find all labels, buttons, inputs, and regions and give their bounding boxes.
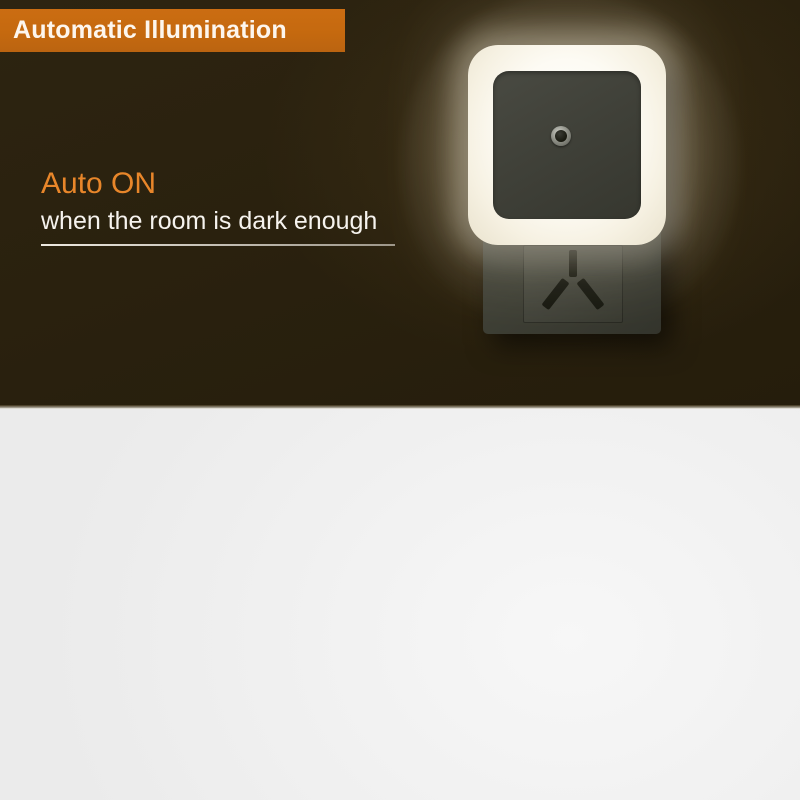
headline-banner-label: Automatic Illumination [0, 16, 287, 45]
panel-divider [0, 405, 800, 409]
light-sensor-icon [551, 126, 571, 146]
socket-pin-top-icon [569, 250, 577, 277]
product-feature-poster: Automatic Illumination Auto ON when the … [0, 0, 800, 800]
caption-auto-on-rule [41, 244, 395, 246]
socket-pin-left-icon [541, 278, 569, 310]
caption-auto-on-subtitle: when the room is dark enough [41, 204, 395, 238]
wall-socket-dark [523, 245, 623, 323]
night-light-body-lit [468, 45, 666, 245]
night-light-face-dark [493, 71, 641, 219]
socket-pin-right-icon [576, 278, 604, 310]
panel-auto-off: Auto OFF when the ambient light increase… [0, 408, 800, 800]
light-sensor-core [555, 130, 567, 142]
panel-auto-on: Automatic Illumination Auto ON when the … [0, 0, 800, 408]
headline-banner: Automatic Illumination [0, 9, 345, 52]
caption-auto-on: Auto ON when the room is dark enough [41, 166, 395, 246]
caption-auto-on-title: Auto ON [41, 166, 395, 202]
